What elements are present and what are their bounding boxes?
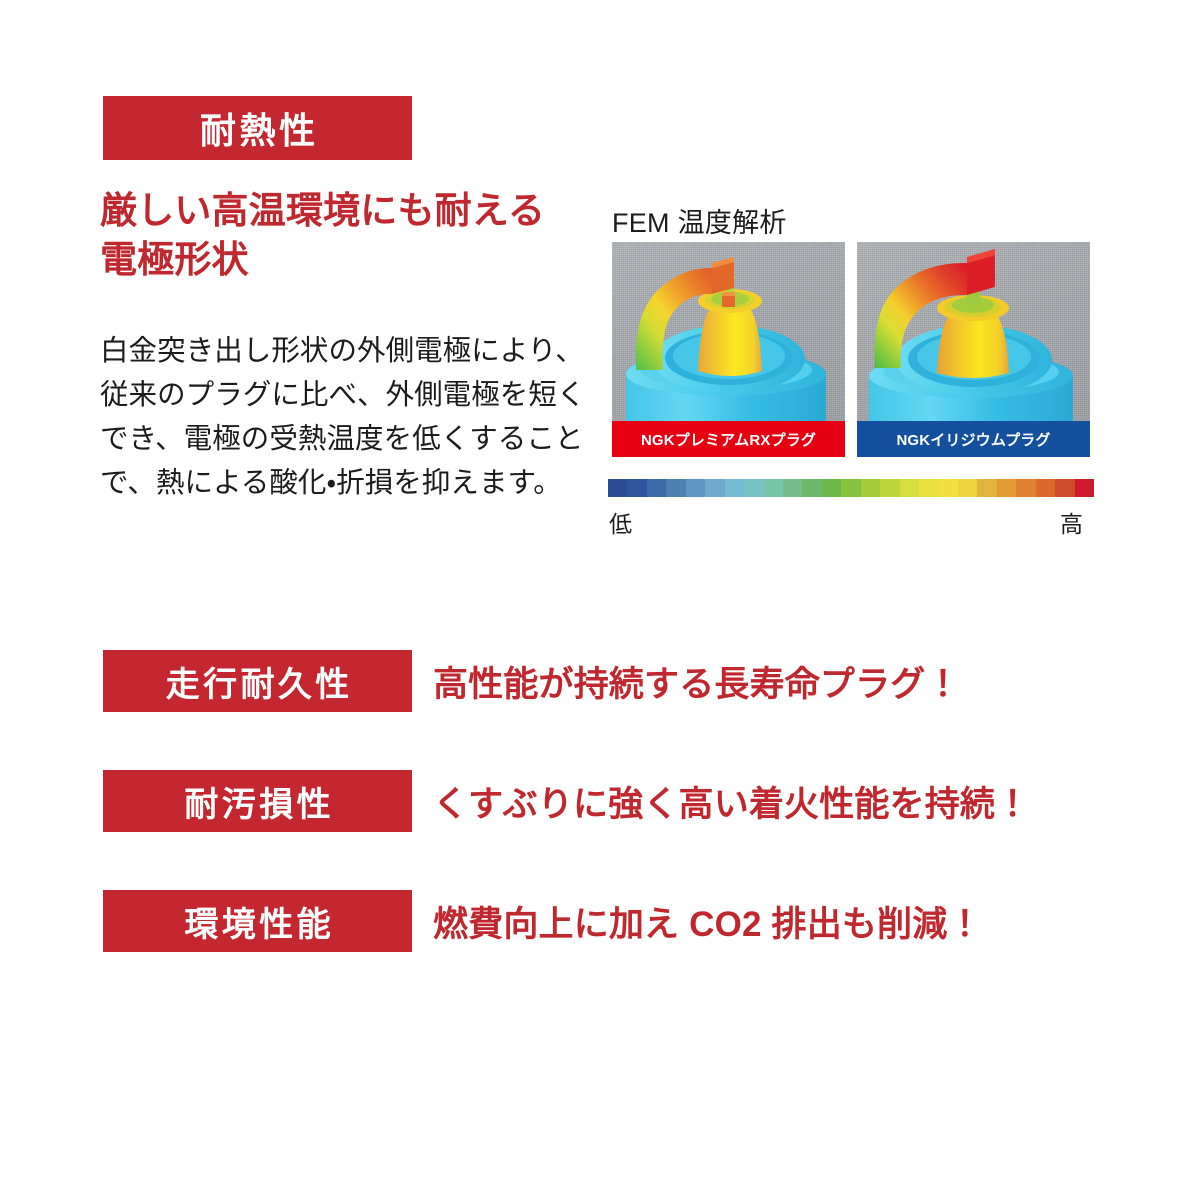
feature-row: 耐汚損性 くすぶりに強く高い着火性能を持続！ xyxy=(103,770,1033,832)
scale-swatch-18 xyxy=(958,479,977,497)
scale-swatch-13 xyxy=(861,479,880,497)
scale-swatch-3 xyxy=(666,479,685,497)
scale-swatch-5 xyxy=(705,479,724,497)
scale-swatch-9 xyxy=(783,479,802,497)
feature-row: 環境性能 燃費向上に加え CO2 排出も削減！ xyxy=(103,890,1033,952)
scale-swatch-6 xyxy=(725,479,744,497)
scale-swatch-20 xyxy=(997,479,1016,497)
body-line-1: 白金突き出し形状の外側電極により、 xyxy=(100,330,600,374)
scale-swatch-4 xyxy=(686,479,705,497)
scale-swatch-10 xyxy=(802,479,821,497)
scale-swatch-19 xyxy=(977,479,996,497)
scale-swatch-24 xyxy=(1075,479,1094,497)
scale-swatch-7 xyxy=(744,479,763,497)
scale-swatch-22 xyxy=(1036,479,1055,497)
scale-swatch-21 xyxy=(1016,479,1035,497)
scale-swatch-11 xyxy=(822,479,841,497)
headline-line-2: 電極形状 xyxy=(100,235,600,284)
fem-caption-iridium: NGKイリジウムプラグ xyxy=(857,421,1090,457)
scale-swatch-23 xyxy=(1055,479,1074,497)
fem-caption-premium-rx: NGKプレミアムRXプラグ xyxy=(612,421,845,457)
scale-label-low: 低 xyxy=(609,505,632,539)
feature-text-durability: 高性能が持続する長寿命プラグ！ xyxy=(433,650,961,712)
scale-swatch-0 xyxy=(608,479,627,497)
scale-swatch-12 xyxy=(841,479,860,497)
scale-label-high: 高 xyxy=(1060,505,1083,539)
body-line-2: 従来のプラグに比べ、外側電極を短く xyxy=(100,374,600,418)
section-badge-heat-resistance: 耐熱性 xyxy=(103,96,412,160)
fem-analysis-title: FEM 温度解析 xyxy=(612,201,787,240)
fem-figure-iridium: NGKイリジウムプラグ xyxy=(857,242,1090,457)
feature-badge-environmental: 環境性能 xyxy=(103,890,412,952)
scale-swatch-8 xyxy=(764,479,783,497)
fem-figure-premium-rx: NGKプレミアムRXプラグ xyxy=(612,242,845,457)
feature-text-fouling-resistance: くすぶりに強く高い着火性能を持続！ xyxy=(433,770,1030,832)
section-headline: 厳しい高温環境にも耐える 電極形状 xyxy=(100,186,600,284)
temperature-color-scale xyxy=(608,479,1094,497)
scale-swatch-15 xyxy=(900,479,919,497)
scale-swatch-17 xyxy=(938,479,957,497)
feature-row: 走行耐久性 高性能が持続する長寿命プラグ！ xyxy=(103,650,1033,712)
scale-swatch-14 xyxy=(880,479,899,497)
feature-badge-fouling-resistance: 耐汚損性 xyxy=(103,770,412,832)
body-line-3: でき、電極の受熱温度を低くすること xyxy=(100,418,600,462)
page-root: 耐熱性 厳しい高温環境にも耐える 電極形状 白金突き出し形状の外側電極により、 … xyxy=(0,0,1200,1200)
headline-line-1: 厳しい高温環境にも耐える xyxy=(100,186,600,235)
section-body-copy: 白金突き出し形状の外側電極により、 従来のプラグに比べ、外側電極を短く でき、電… xyxy=(100,330,600,506)
body-line-4: で、熱による酸化・折損を抑えます。 xyxy=(100,462,600,506)
scale-swatch-2 xyxy=(647,479,666,497)
scale-swatch-1 xyxy=(627,479,646,497)
feature-badge-durability: 走行耐久性 xyxy=(103,650,412,712)
feature-text-environmental: 燃費向上に加え CO2 排出も削減！ xyxy=(433,890,983,952)
scale-swatch-16 xyxy=(919,479,938,497)
